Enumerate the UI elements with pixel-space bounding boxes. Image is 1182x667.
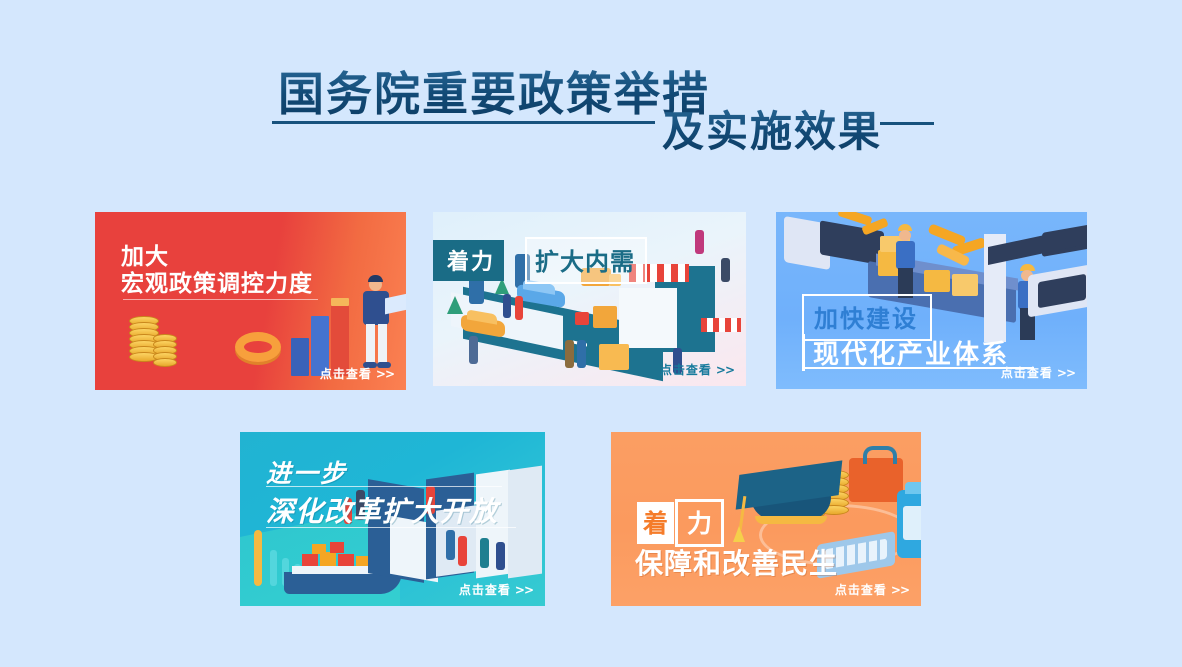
- card5-title-char2: 力: [675, 499, 724, 547]
- card2-cta-label: 点击查看: [660, 363, 712, 377]
- businessman-document: [385, 294, 406, 315]
- grad-cap-band: [755, 516, 827, 524]
- ship-container-6: [330, 542, 344, 553]
- page-title-line2: 及实施效果: [662, 98, 882, 159]
- card4-title-line1: 进一步: [266, 454, 347, 490]
- card3-cta-arrows-icon: >>: [1057, 366, 1075, 380]
- parcel-box-2: [599, 344, 629, 370]
- medicine-bottle-label: [903, 506, 921, 540]
- pedestrian-5: [577, 340, 586, 368]
- bar-chart-bar-1: [291, 338, 309, 376]
- pedestrian-7: [721, 258, 730, 282]
- torus-ring-icon: [235, 332, 281, 362]
- card4-divider-bottom: [266, 527, 516, 528]
- tree-1: [447, 296, 463, 314]
- carton-4: [952, 274, 978, 296]
- card2-cta-arrows-icon: >>: [716, 363, 734, 377]
- medicine-bottle-cap: [905, 482, 921, 494]
- chart-bar-gold: [254, 530, 262, 586]
- worker1-shirt: [896, 241, 915, 269]
- page-title-line1: 国务院重要政策举措: [278, 58, 710, 124]
- briefcase-handle: [863, 446, 897, 464]
- card-deepen-reform-opening-up[interactable]: 进一步 深化改革扩大开放 点击查看>>: [240, 432, 545, 606]
- pedestrian-1: [503, 294, 511, 318]
- pedestrian-3: [469, 336, 478, 364]
- card1-title-line2: 宏观政策调控力度: [121, 264, 313, 298]
- grad-cap-tassel: [733, 526, 745, 542]
- visitor-7: [496, 542, 505, 570]
- businessman-leg-left: [366, 324, 375, 364]
- card-macro-policy-regulation[interactable]: 加大 宏观政策调控力度 点击查看>>: [95, 212, 406, 390]
- chart-bar-cyan-1: [270, 550, 277, 586]
- card2-cta[interactable]: 点击查看>>: [660, 361, 734, 378]
- card5-cta-arrows-icon: >>: [891, 583, 909, 597]
- briefcase-body: [849, 458, 903, 502]
- card3-cta[interactable]: 点击查看>>: [1001, 364, 1075, 381]
- parcel-box-1: [593, 306, 617, 328]
- worker1-head: [899, 230, 911, 241]
- card3-cta-label: 点击查看: [1001, 366, 1053, 380]
- ship-container-2: [320, 552, 336, 566]
- card4-cta-label: 点击查看: [459, 583, 511, 597]
- card-improve-peoples-livelihood[interactable]: 着 力 保障和改善民生 点击查看>>: [611, 432, 921, 606]
- card1-cta[interactable]: 点击查看>>: [320, 365, 394, 382]
- card3-title-line2: 现代化产业体系: [802, 334, 1009, 371]
- card3-divider: [802, 367, 1034, 369]
- card4-cta-arrows-icon: >>: [515, 583, 533, 597]
- card1-divider: [123, 299, 318, 300]
- card1-cta-arrows-icon: >>: [376, 367, 394, 381]
- card5-title-line2: 保障和改善民生: [635, 542, 838, 582]
- card4-divider-top: [266, 486, 502, 487]
- card2-title-line2: 扩大内需: [525, 237, 647, 284]
- carton-3: [924, 270, 950, 292]
- page-root: 国务院重要政策举措 及实施效果: [0, 0, 1182, 667]
- visitor-6: [480, 538, 489, 568]
- visitor-4: [446, 530, 455, 560]
- card5-cta[interactable]: 点击查看>>: [835, 581, 909, 598]
- pedestrian-2: [515, 296, 523, 320]
- ship-container-5: [312, 544, 326, 554]
- card2-title-line1: 着力: [433, 240, 504, 281]
- factory-roof-beam: [988, 225, 1087, 265]
- store-interior: [619, 288, 677, 348]
- title-trailing-dash: [880, 122, 934, 125]
- ship-container-3: [338, 554, 354, 566]
- pedestrian-6: [695, 230, 704, 254]
- pedestrian-4: [565, 340, 574, 368]
- card5-cta-label: 点击查看: [835, 583, 887, 597]
- ship-container-1: [302, 554, 318, 566]
- card4-title-line2: 深化改革扩大开放: [266, 490, 498, 530]
- businessman-hair: [368, 275, 383, 282]
- card5-title-char1: 着: [637, 502, 674, 544]
- card-modern-industrial-system[interactable]: 加快建设 现代化产业体系 点击查看>>: [776, 212, 1087, 389]
- businessman-leg-right: [378, 324, 387, 364]
- visitor-5: [458, 536, 467, 566]
- card4-cta[interactable]: 点击查看>>: [459, 581, 533, 598]
- card-expand-domestic-demand[interactable]: 着力 扩大内需 点击查看>>: [433, 212, 746, 386]
- page-header: 国务院重要政策举措 及实施效果: [0, 0, 1182, 190]
- parcel-box-3: [575, 312, 589, 325]
- card1-cta-label: 点击查看: [320, 367, 372, 381]
- stall-awning: [701, 318, 741, 332]
- booth-4: [508, 466, 542, 579]
- bar-chart-bar-3-top: [331, 298, 349, 306]
